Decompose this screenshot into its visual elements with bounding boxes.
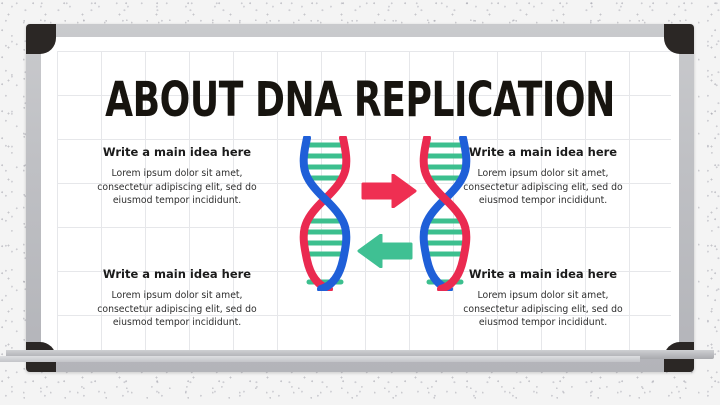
whiteboard: ABOUT DNA REPLICATION Write a main idea … xyxy=(26,24,694,372)
idea-heading: Write a main idea here xyxy=(88,146,266,160)
replication-arrows xyxy=(353,174,437,274)
idea-block-top-left: Write a main idea here Lorem ipsum dolor… xyxy=(88,146,266,208)
idea-body: Lorem ipsum dolor sit amet, consectetur … xyxy=(88,289,266,330)
page-title: ABOUT DNA REPLICATION xyxy=(66,76,654,124)
idea-heading: Write a main idea here xyxy=(88,268,266,282)
idea-body: Lorem ipsum dolor sit amet, consectetur … xyxy=(88,167,266,208)
idea-block-bottom-left: Write a main idea here Lorem ipsum dolor… xyxy=(88,268,266,330)
arrow-left-icon xyxy=(357,234,413,268)
arrow-right-icon xyxy=(361,174,417,208)
slide-content: ABOUT DNA REPLICATION Write a main idea … xyxy=(26,24,694,372)
whiteboard-tray-lip xyxy=(0,356,640,362)
dna-replication-diagram xyxy=(281,136,506,314)
dna-helix-left-icon xyxy=(289,136,361,291)
